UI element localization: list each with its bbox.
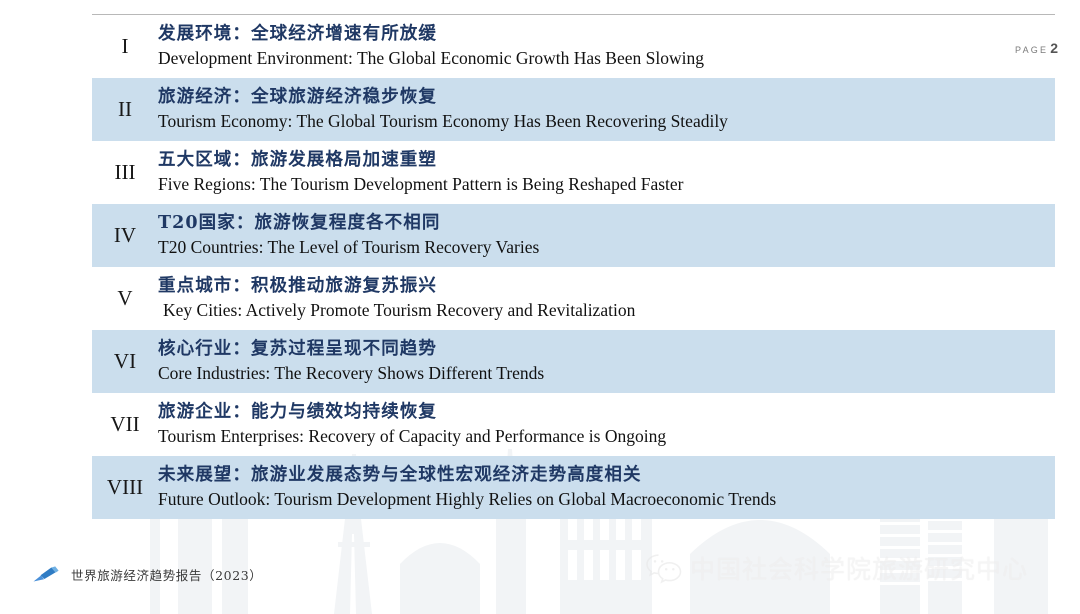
toc-title-en: Future Outlook: Tourism Development High… (158, 487, 1045, 511)
toc-row[interactable]: VI 核心行业：复苏过程呈现不同趋势 Core Industries: The … (92, 330, 1055, 393)
footer-report-title: 世界旅游经济趋势报告（2023） (71, 565, 262, 584)
toc-title-en: Tourism Enterprises: Recovery of Capacit… (158, 424, 1045, 448)
toc-numeral: III (92, 162, 158, 183)
toc-row[interactable]: I 发展环境：全球经济增速有所放缓 Development Environmen… (92, 15, 1055, 78)
toc-title-cn: 发展环境：全球经济增速有所放缓 (158, 23, 1045, 47)
toc-row[interactable]: II 旅游经济：全球旅游经济稳步恢复 Tourism Economy: The … (92, 78, 1055, 141)
slide-canvas: PAGE2 I 发展环境：全球经济增速有所放缓 Development Envi… (0, 0, 1080, 614)
slide-footer: 世界旅游经济趋势报告（2023） 中国社会科学院旅游研究中心 (0, 542, 1080, 614)
toc-numeral: I (92, 36, 158, 57)
toc-row[interactable]: VIII 未来展望：旅游业发展态势与全球性宏观经济走势高度相关 Future O… (92, 456, 1055, 519)
toc-entry-text: 五大区域：旅游发展格局加速重塑 Five Regions: The Touris… (158, 149, 1055, 197)
toc-numeral: V (92, 288, 158, 309)
toc-title-cn: 核心行业：复苏过程呈现不同趋势 (158, 338, 1045, 362)
table-of-contents: I 发展环境：全球经济增速有所放缓 Development Environmen… (92, 15, 1055, 519)
toc-entry-text: 未来展望：旅游业发展态势与全球性宏观经济走势高度相关 Future Outloo… (158, 464, 1055, 512)
toc-entry-text: T20国家：旅游恢复程度各不相同 T20 Countries: The Leve… (158, 212, 1055, 260)
toc-numeral: VII (92, 414, 158, 435)
toc-numeral: IV (92, 225, 158, 246)
toc-numeral: VI (92, 351, 158, 372)
toc-entry-text: 旅游企业：能力与绩效均持续恢复 Tourism Enterprises: Rec… (158, 401, 1055, 449)
toc-entry-text: 发展环境：全球经济增速有所放缓 Development Environment:… (158, 23, 1055, 71)
toc-title-en: T20 Countries: The Level of Tourism Reco… (158, 235, 1045, 259)
toc-entry-text: 旅游经济：全球旅游经济稳步恢复 Tourism Economy: The Glo… (158, 86, 1055, 134)
toc-row[interactable]: III 五大区域：旅游发展格局加速重塑 Five Regions: The To… (92, 141, 1055, 204)
toc-title-en: Core Industries: The Recovery Shows Diff… (158, 361, 1045, 385)
toc-title-en: Key Cities: Actively Promote Tourism Rec… (158, 298, 1045, 322)
toc-title-en: Development Environment: The Global Econ… (158, 46, 1045, 70)
toc-title-cn: T20国家：旅游恢复程度各不相同 (158, 212, 1045, 236)
toc-row[interactable]: VII 旅游企业：能力与绩效均持续恢复 Tourism Enterprises:… (92, 393, 1055, 456)
footer-org-branding: 中国社会科学院旅游研究中心 (645, 550, 1028, 586)
toc-title-cn: 重点城市：积极推动旅游复苏振兴 (158, 275, 1045, 299)
toc-numeral: VIII (92, 477, 158, 498)
toc-entry-text: 重点城市：积极推动旅游复苏振兴 Key Cities: Actively Pro… (158, 275, 1055, 323)
pen-icon (32, 566, 62, 584)
toc-entry-text: 核心行业：复苏过程呈现不同趋势 Core Industries: The Rec… (158, 338, 1055, 386)
toc-row[interactable]: V 重点城市：积极推动旅游复苏振兴 Key Cities: Actively P… (92, 267, 1055, 330)
toc-numeral: II (92, 99, 158, 120)
toc-title-cn: 旅游企业：能力与绩效均持续恢复 (158, 401, 1045, 425)
toc-title-cn: 五大区域：旅游发展格局加速重塑 (158, 149, 1045, 173)
toc-title-cn: 旅游经济：全球旅游经济稳步恢复 (158, 86, 1045, 110)
wechat-icon (645, 552, 683, 584)
toc-row[interactable]: IV T20国家：旅游恢复程度各不相同 T20 Countries: The L… (92, 204, 1055, 267)
toc-title-en: Five Regions: The Tourism Development Pa… (158, 172, 1045, 196)
toc-title-cn: 未来展望：旅游业发展态势与全球性宏观经济走势高度相关 (158, 464, 1045, 488)
toc-title-en: Tourism Economy: The Global Tourism Econ… (158, 109, 1045, 133)
footer-report-branding: 世界旅游经济趋势报告（2023） (32, 565, 262, 584)
footer-org-name: 中国社会科学院旅游研究中心 (690, 550, 1028, 586)
